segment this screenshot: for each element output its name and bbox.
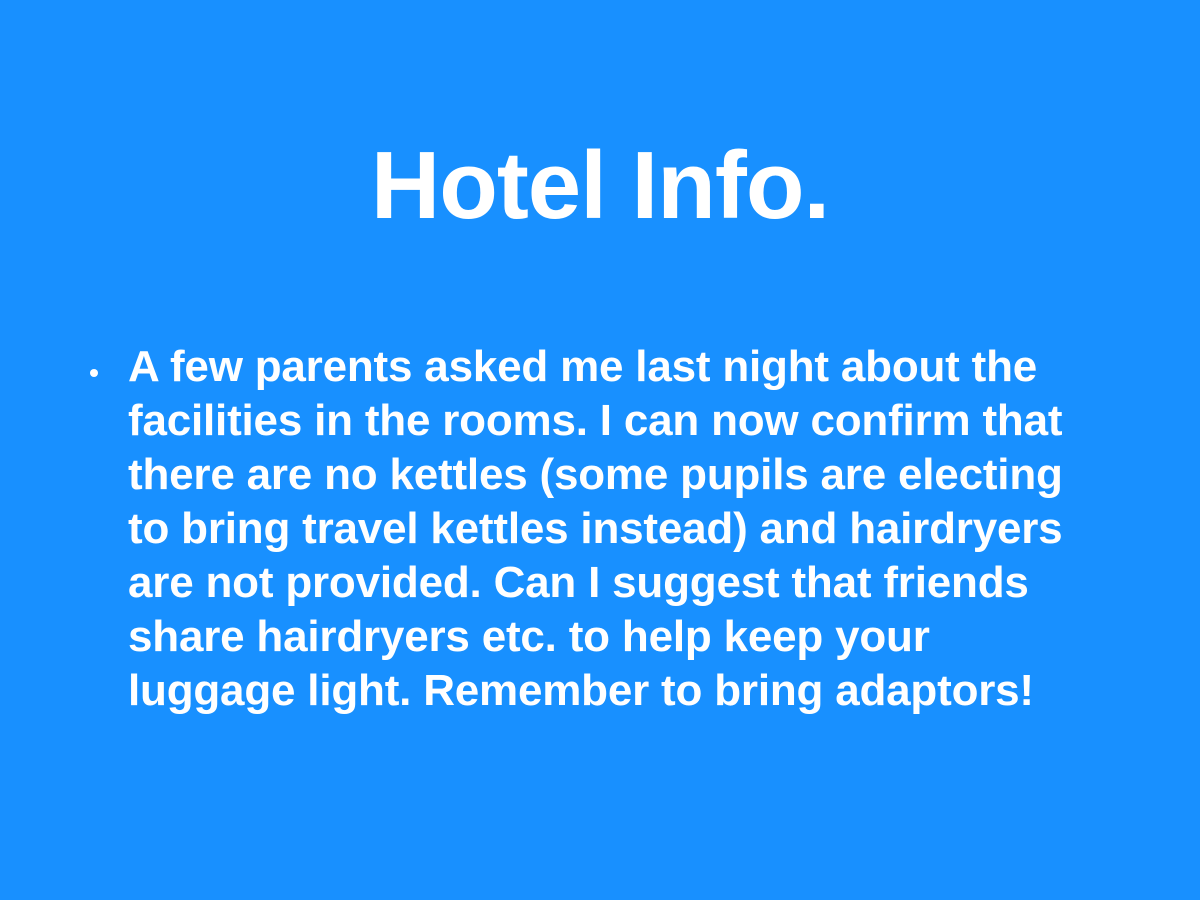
list-item: A few parents asked me last night about … — [80, 340, 1120, 718]
slide-title: Hotel Info. — [0, 130, 1200, 242]
slide-body: A few parents asked me last night about … — [80, 340, 1120, 718]
bullet-item-text: A few parents asked me last night about … — [128, 340, 1090, 718]
presentation-slide: Hotel Info. A few parents asked me last … — [0, 0, 1200, 900]
bullet-dot-icon — [90, 369, 98, 377]
